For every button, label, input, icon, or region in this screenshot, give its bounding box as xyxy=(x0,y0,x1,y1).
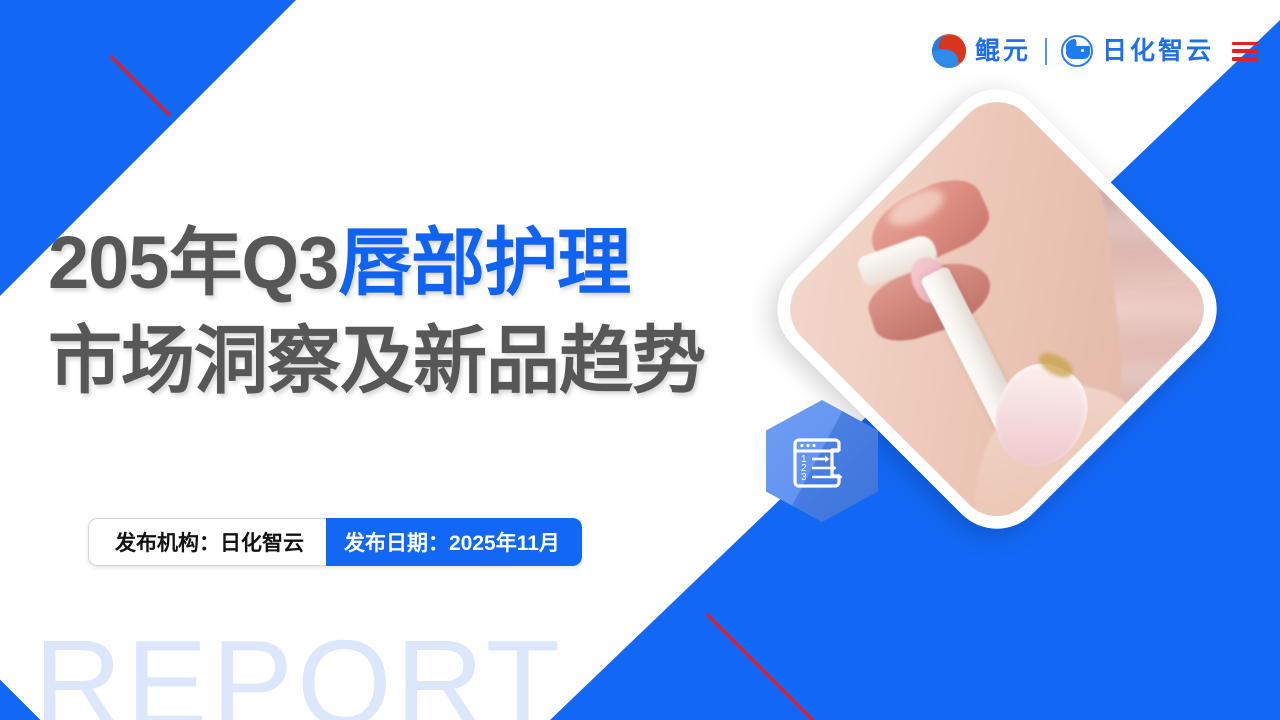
title-line-1-gray: 205年Q3 xyxy=(48,221,338,304)
publisher-label: 发布机构：日化智云 xyxy=(88,518,326,566)
title-line-2: 市场洞察及新品趋势 xyxy=(48,312,705,410)
title-line-1: 205年Q3唇部护理 xyxy=(48,214,705,312)
title-line-1-blue: 唇部护理 xyxy=(338,221,630,304)
brand-secondary[interactable]: 日化智云 xyxy=(1061,35,1214,67)
numbered-list-document-icon: 1 2 3 xyxy=(793,434,851,488)
svg-text:3: 3 xyxy=(801,472,807,483)
report-cover-slide: REPORT 鲲元 日化智云 xyxy=(0,0,1280,720)
globe-swirl-icon xyxy=(932,34,966,68)
hamburger-menu-icon[interactable] xyxy=(1232,42,1258,61)
title-block: 205年Q3唇部护理 市场洞察及新品趋势 xyxy=(48,214,705,411)
hexagon-badge: 1 2 3 xyxy=(766,400,878,522)
header-logo-bar: 鲲元 日化智云 xyxy=(932,34,1258,68)
brand-separator xyxy=(1045,38,1047,65)
brand-secondary-name: 日化智云 xyxy=(1102,39,1214,64)
publish-date-label: 发布日期：2025年11月 xyxy=(326,518,582,566)
brand-primary[interactable]: 鲲元 xyxy=(932,34,1031,68)
report-watermark: REPORT xyxy=(34,622,564,720)
brand-primary-name: 鲲元 xyxy=(975,39,1031,64)
publication-info-bar: 发布机构：日化智云 发布日期：2025年11月 xyxy=(88,518,582,566)
whale-icon xyxy=(1061,35,1093,67)
